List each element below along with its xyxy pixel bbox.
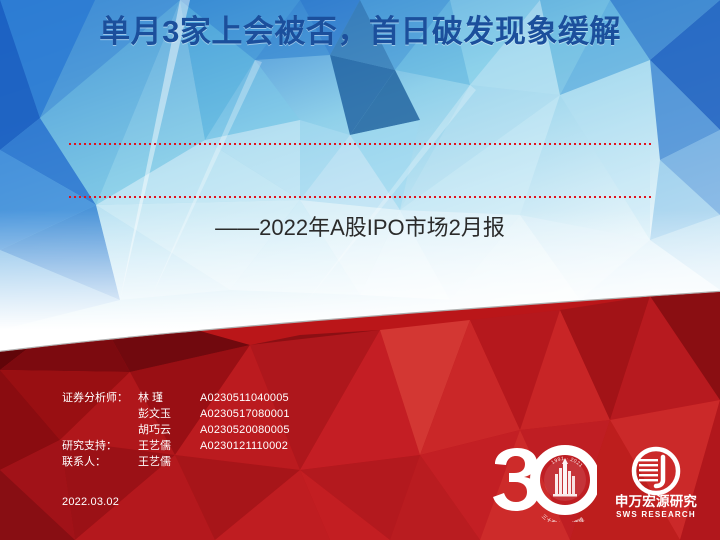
sws-circle-mark (634, 449, 678, 493)
credit-row: 胡巧云 A0230520080005 (62, 422, 290, 438)
credit-code: A0230517080001 (200, 406, 290, 422)
credit-row: 证券分析师： 林 瑾 A0230511040005 (62, 390, 290, 406)
page-title: 单月3家上会被否，首日破发现象缓解 (0, 10, 720, 54)
credit-name: 胡巧云 (138, 422, 200, 438)
credit-role: 研究支持： (62, 438, 138, 454)
report-cover-slide: 单月3家上会被否，首日破发现象缓解 ——2022年A股IPO市场2月报 证券分析… (0, 0, 720, 540)
sws-research-logo: 申万宏源研究 SWS RESEARCH (606, 446, 706, 522)
credit-row: 彭文玉 A0230517080001 (62, 406, 290, 422)
sws-wordmark-en: SWS RESEARCH (616, 510, 696, 519)
page-subtitle: ——2022年A股IPO市场2月报 (0, 212, 720, 244)
title-rule-bottom (69, 196, 654, 198)
analyst-credits: 证券分析师： 林 瑾 A0230511040005 彭文玉 A023051708… (62, 390, 290, 470)
credit-code: A0230520080005 (200, 422, 290, 438)
title-block (0, 138, 720, 208)
credit-code: A0230121110002 (200, 438, 288, 454)
credit-row: 联系人： 王艺儒 (62, 454, 290, 470)
credit-role: 联系人： (62, 454, 138, 470)
credit-role: 证券分析师： (62, 390, 138, 406)
publication-date: 2022.03.02 (62, 494, 119, 510)
credit-name: 林 瑾 (138, 390, 200, 406)
credit-code: A0230511040005 (200, 390, 289, 406)
title-rule-top (69, 143, 654, 145)
credit-name: 彭文玉 (138, 406, 200, 422)
credit-name: 王艺儒 (138, 438, 200, 454)
sws-wordmark-cn: 申万宏源研究 (615, 493, 697, 510)
30-anniversary-logo: 1991 · 2021 三十而立 再创辉煌 (489, 444, 597, 522)
credit-name: 王艺儒 (138, 454, 200, 470)
credit-row: 研究支持： 王艺儒 A0230121110002 (62, 438, 290, 454)
